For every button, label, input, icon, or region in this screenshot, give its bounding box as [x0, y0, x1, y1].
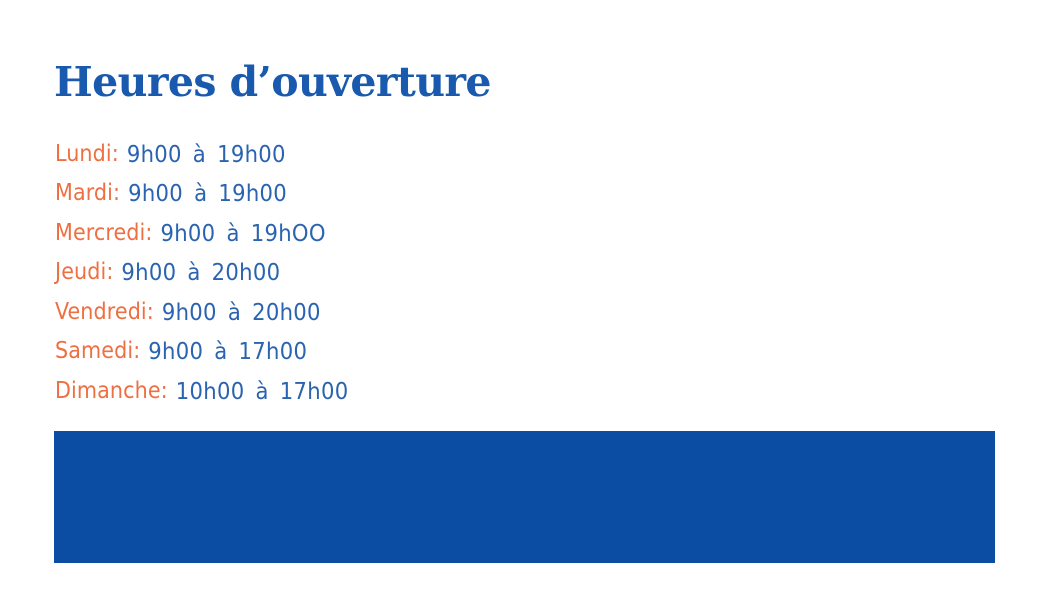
- close-time: 20h00: [252, 298, 321, 326]
- slide-canvas: Heures d’ouverture Lundi: 9h00 à 19h00 M…: [0, 0, 1050, 600]
- day-label: Samedi:: [55, 337, 140, 365]
- time-separator: à: [224, 298, 245, 326]
- time-range: 9h00 à 20h00: [162, 298, 321, 326]
- list-item: Dimanche: 10h00 à 17h00: [55, 371, 348, 411]
- time-range: 9h00 à 20h00: [121, 258, 280, 286]
- list-item: Samedi: 9h00 à 17h00: [55, 332, 348, 372]
- list-item: Mardi: 9h00 à 19h00: [55, 174, 348, 214]
- time-range: 9h00 à 19h00: [127, 140, 286, 168]
- open-time: 9h00: [160, 219, 215, 247]
- day-label: Mardi:: [55, 179, 120, 207]
- time-separator: à: [210, 337, 231, 365]
- content-placeholder-block: [54, 431, 995, 563]
- open-time: 9h00: [128, 179, 183, 207]
- open-time: 9h00: [121, 258, 176, 286]
- list-item: Jeudi: 9h00 à 20h00: [55, 253, 348, 293]
- time-separator: à: [190, 179, 211, 207]
- close-time: 20h00: [212, 258, 281, 286]
- open-time: 9h00: [148, 337, 203, 365]
- close-time: 17h00: [239, 337, 308, 365]
- day-label: Jeudi:: [55, 258, 113, 286]
- list-item: Lundi: 9h00 à 19h00: [55, 134, 348, 174]
- time-range: 9h00 à 19hOO: [160, 219, 325, 247]
- list-item: Vendredi: 9h00 à 20h00: [55, 292, 348, 332]
- time-range: 10h00 à 17h00: [176, 377, 349, 405]
- page-title: Heures d’ouverture: [54, 58, 491, 106]
- open-time: 9h00: [162, 298, 217, 326]
- time-separator: à: [183, 258, 204, 286]
- close-time: 19h00: [218, 179, 287, 207]
- time-separator: à: [222, 219, 243, 247]
- close-time: 19hOO: [251, 219, 326, 247]
- day-label: Vendredi:: [55, 298, 154, 326]
- close-time: 17h00: [280, 377, 349, 405]
- time-separator: à: [251, 377, 272, 405]
- list-item: Mercredi: 9h00 à 19hOO: [55, 213, 348, 253]
- open-time: 9h00: [127, 140, 182, 168]
- time-separator: à: [189, 140, 210, 168]
- time-range: 9h00 à 17h00: [148, 337, 307, 365]
- time-range: 9h00 à 19h00: [128, 179, 287, 207]
- day-label: Mercredi:: [55, 219, 152, 247]
- day-label: Lundi:: [55, 140, 119, 168]
- opening-hours-list: Lundi: 9h00 à 19h00 Mardi: 9h00 à 19h00 …: [55, 134, 348, 411]
- close-time: 19h00: [217, 140, 286, 168]
- day-label: Dimanche:: [55, 377, 168, 405]
- open-time: 10h00: [176, 377, 245, 405]
